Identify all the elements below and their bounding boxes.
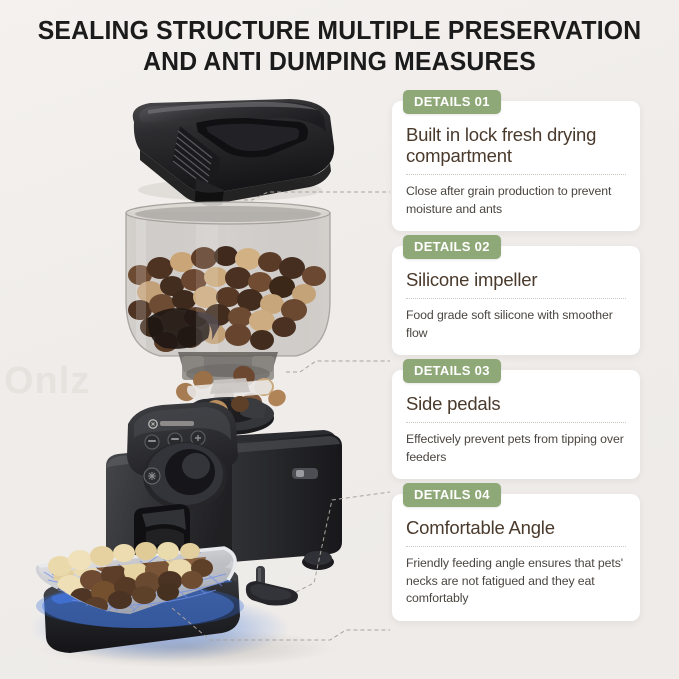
product-exploded-view: [0, 0, 392, 679]
card-divider-03: [406, 422, 626, 423]
hopper-part: [126, 202, 330, 384]
card-divider-02: [406, 298, 626, 299]
lid-part: [133, 99, 334, 206]
details-card-01: DETAILS 01 Built in lock fresh drying co…: [392, 101, 640, 231]
card-title-02: Silicone impeller: [406, 269, 626, 290]
details-card-02: DETAILS 02 Silicone impeller Food grade …: [392, 246, 640, 355]
badge-02: DETAILS 02: [403, 235, 501, 259]
card-divider-01: [406, 174, 626, 175]
card-title-03: Side pedals: [406, 393, 626, 414]
details-card-03: DETAILS 03 Side pedals Effectively preve…: [392, 370, 640, 479]
card-title-04: Comfortable Angle: [406, 517, 626, 538]
details-cards-list: DETAILS 01 Built in lock fresh drying co…: [392, 101, 640, 636]
card-divider-04: [406, 546, 626, 547]
badge-03: DETAILS 03: [403, 359, 501, 383]
details-card-04: DETAILS 04 Comfortable Angle Friendly fe…: [392, 494, 640, 621]
connector-line-02: [286, 361, 390, 372]
infographic-page: SEALING STRUCTURE MULTIPLE PRESERVATION …: [0, 0, 679, 679]
card-desc-01: Close after grain production to prevent …: [406, 183, 626, 218]
card-desc-04: Friendly feeding angle ensures that pets…: [406, 555, 626, 608]
card-desc-02: Food grade soft silicone with smoother f…: [406, 307, 626, 342]
badge-04: DETAILS 04: [403, 483, 501, 507]
badge-01: DETAILS 01: [403, 90, 501, 114]
card-desc-03: Effectively prevent pets from tipping ov…: [406, 431, 626, 466]
dial-knob: [143, 442, 227, 510]
side-pedal-part: [246, 566, 298, 606]
card-title-01: Built in lock fresh drying compartment: [406, 124, 626, 166]
bowl-part: [37, 542, 235, 628]
